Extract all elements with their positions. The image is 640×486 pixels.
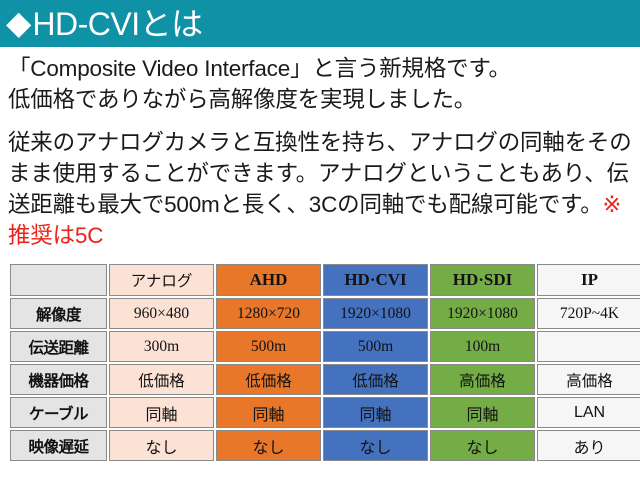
cell-latency-ahd: なし [216,430,321,461]
table-header-corner [10,264,107,296]
cell-price-cvi: 低価格 [323,364,428,395]
table-row: 伝送距離 300m 500m 500m 100m [10,331,640,362]
table-header-ip: IP [537,264,640,296]
page-header-bar: ◆ HD-CVIとは [0,0,640,47]
cell-resolution-ip: 720P~4K [537,298,640,329]
cell-latency-analog: なし [109,430,214,461]
cell-latency-ip: あり [537,430,640,461]
row-label-latency: 映像遅延 [10,430,107,461]
cell-latency-sdi: なし [430,430,535,461]
table-row: 解像度 960×480 1280×720 1920×1080 1920×1080… [10,298,640,329]
cell-cable-cvi: 同軸 [323,397,428,428]
page-title: HD-CVIとは [32,8,202,40]
cell-resolution-ahd: 1280×720 [216,298,321,329]
row-label-resolution: 解像度 [10,298,107,329]
spec-comparison-table: アナログ AHD HD·CVI HD·SDI IP 解像度 960×480 12… [8,262,640,463]
cell-distance-ahd: 500m [216,331,321,362]
cell-distance-ip [537,331,640,362]
table-row: 映像遅延 なし なし なし なし あり [10,430,640,461]
cell-resolution-sdi: 1920×1080 [430,298,535,329]
table-row: ケーブル 同軸 同軸 同軸 同軸 LAN [10,397,640,428]
row-label-distance: 伝送距離 [10,331,107,362]
cell-latency-cvi: なし [323,430,428,461]
cell-price-ip: 高価格 [537,364,640,395]
row-label-cable: ケーブル [10,397,107,428]
cell-cable-sdi: 同軸 [430,397,535,428]
table-header-sdi: HD·SDI [430,264,535,296]
table-header-cvi: HD·CVI [323,264,428,296]
cell-cable-analog: 同軸 [109,397,214,428]
diamond-bullet-icon: ◆ [6,6,31,39]
cell-resolution-cvi: 1920×1080 [323,298,428,329]
cell-cable-ip: LAN [537,397,640,428]
paragraph-definition-line1: 「Composite Video Interface」と言う新規格です。 [8,53,636,84]
cell-price-sdi: 高価格 [430,364,535,395]
paragraph-compatibility: 従来のアナログカメラと互換性を持ち、アナログの同軸をそのまま使用することができま… [8,127,636,251]
paragraph-compatibility-text: 従来のアナログカメラと互換性を持ち、アナログの同軸をそのまま使用することができま… [8,127,632,251]
cell-distance-sdi: 100m [430,331,535,362]
paragraph-definition: 「Composite Video Interface」と言う新規格です。 低価格… [8,53,636,115]
table-header-ahd: AHD [216,264,321,296]
cell-price-analog: 低価格 [109,364,214,395]
cell-distance-cvi: 500m [323,331,428,362]
cell-cable-ahd: 同軸 [216,397,321,428]
body-copy: 「Composite Video Interface」と言う新規格です。 低価格… [8,49,636,251]
table-row: 機器価格 低価格 低価格 低価格 高価格 高価格 [10,364,640,395]
table-header-row: アナログ AHD HD·CVI HD·SDI IP [10,264,640,296]
table-header-analog: アナログ [109,264,214,296]
cell-price-ahd: 低価格 [216,364,321,395]
paragraph-compatibility-main: 従来のアナログカメラと互換性を持ち、アナログの同軸をそのまま使用することができま… [8,130,632,217]
cell-distance-analog: 300m [109,331,214,362]
paragraph-definition-line2: 低価格でありながら高解像度を実現しました。 [8,84,636,115]
row-label-price: 機器価格 [10,364,107,395]
cell-resolution-analog: 960×480 [109,298,214,329]
